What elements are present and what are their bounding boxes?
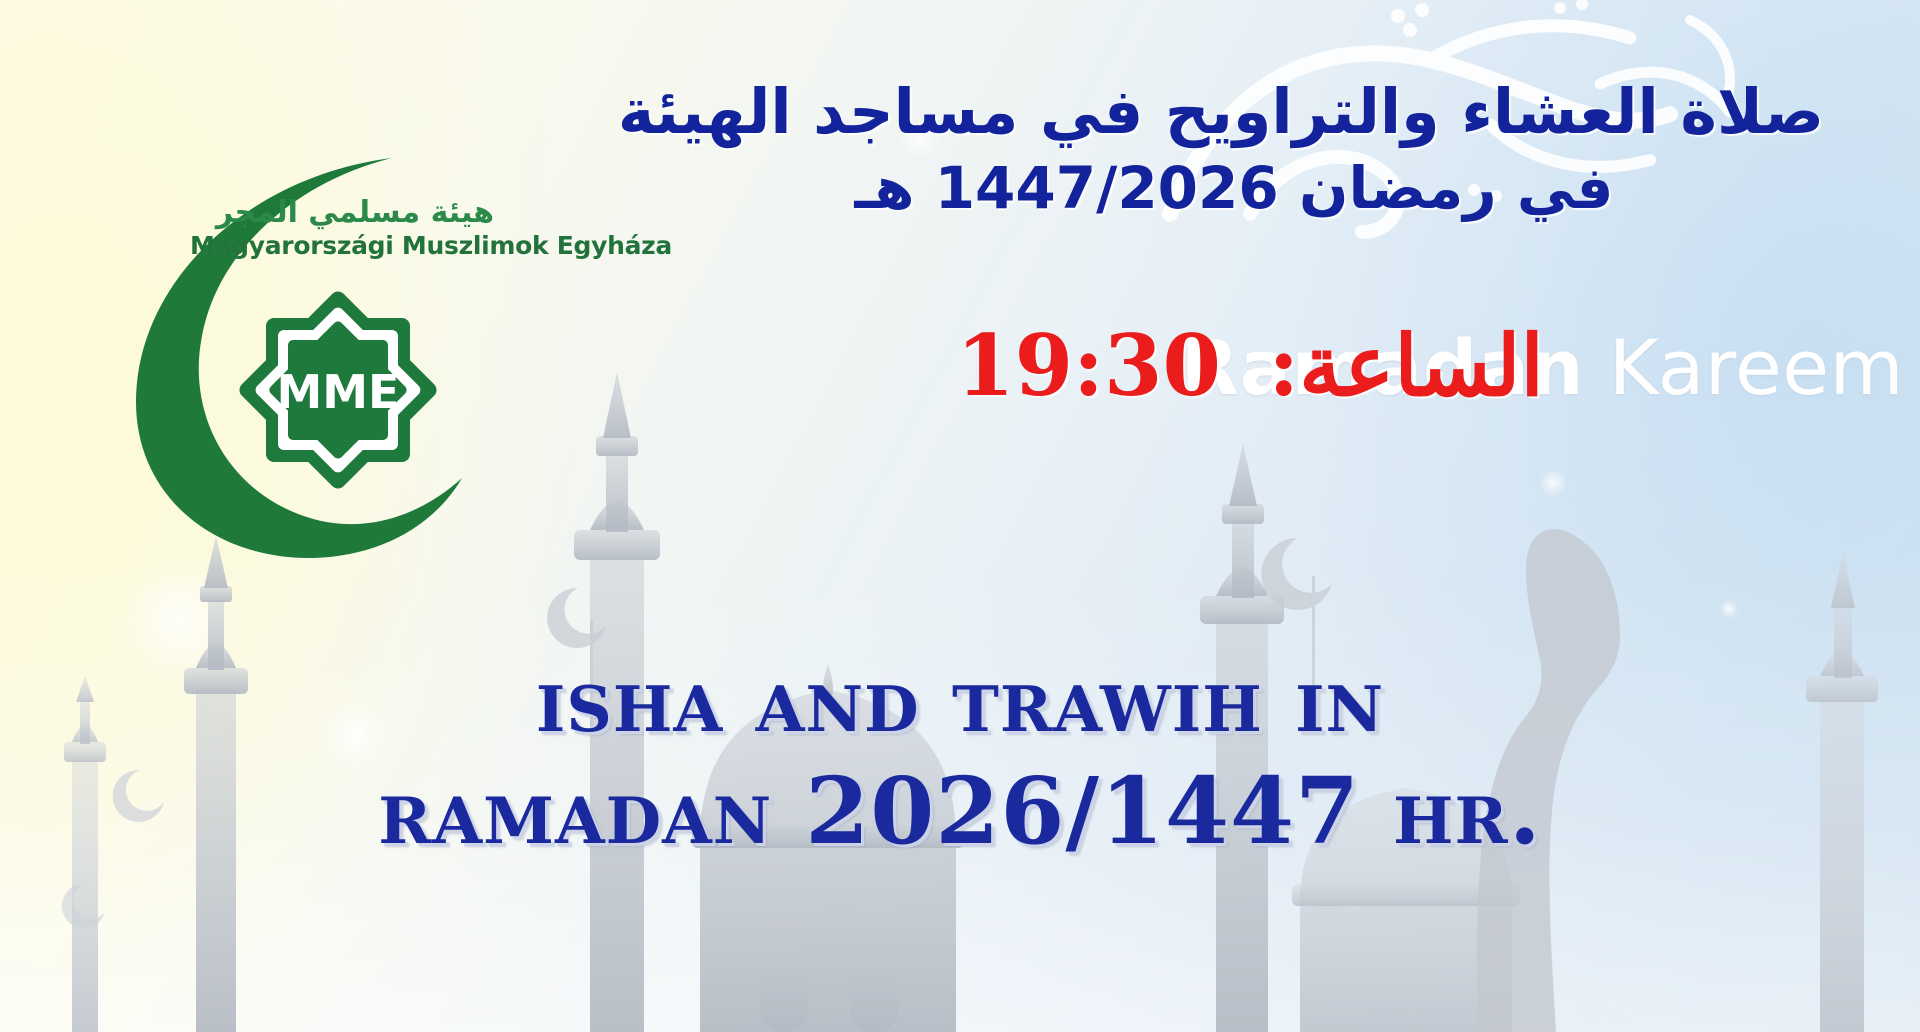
ramadan-announcement-poster: Ramadan Kareem هيئة مسلمي المجر Magyaror…	[0, 0, 1920, 1032]
headline-line-2: في رمضان 1447/2026 هـ	[644, 151, 1824, 225]
time-label: الساعة:	[1268, 316, 1544, 415]
logo-hungarian-name: Magyarországi Muszlimok Egyháza	[190, 231, 520, 260]
english-announcement: Isha and Trawih in Ramadan 2026/1447 HR.	[0, 648, 1920, 865]
mme-logo: هيئة مسلمي المجر Magyarországi Muszlimok…	[62, 140, 522, 560]
time-value: 19:30	[956, 320, 1221, 412]
english-line-1: Isha and Trawih in	[0, 648, 1920, 752]
english-line-2: Ramadan 2026/1447 HR.	[0, 758, 1920, 865]
prayer-time-line: الساعة: 19:30	[720, 320, 1780, 412]
logo-arabic-name: هيئة مسلمي المجر	[190, 196, 520, 229]
logo-text-group: هيئة مسلمي المجر Magyarországi Muszlimok…	[190, 196, 520, 260]
headline-line-1: صلاة العشاء والتراويح في مساجد الهيئة	[644, 72, 1824, 151]
arabic-headline: صلاة العشاء والتراويح في مساجد الهيئة في…	[644, 72, 1824, 226]
logo-badge-text: MME	[277, 365, 400, 419]
eight-point-star-icon: MME	[238, 290, 438, 490]
